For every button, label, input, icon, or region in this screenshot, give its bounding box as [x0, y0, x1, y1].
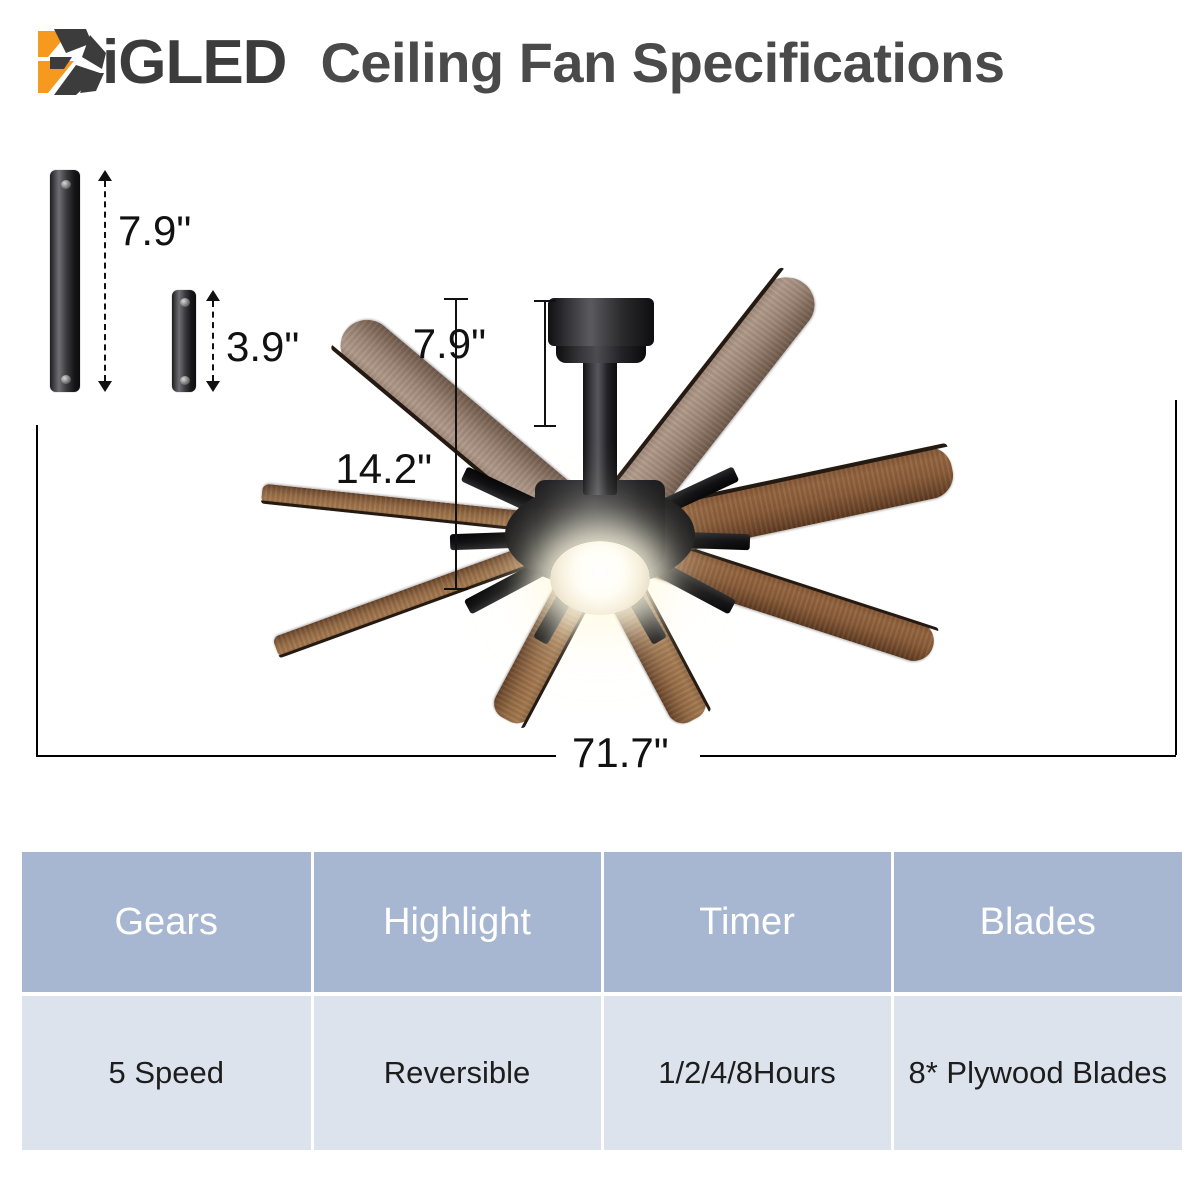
column-header-gears: Gears: [22, 852, 312, 994]
table-header-row: Gears Highlight Timer Blades: [22, 852, 1182, 994]
ceiling-fan-illustration: [0, 125, 1200, 825]
page-title: Ceiling Fan Specifications: [320, 35, 1004, 91]
dim-label-downrod-fitted: 7.9": [413, 320, 486, 368]
specifications-table: Gears Highlight Timer Blades 5 Speed Rev…: [22, 852, 1182, 1150]
cell-timer: 1/2/4/8Hours: [602, 994, 892, 1150]
extent-line-right: [1175, 400, 1177, 755]
cell-gears: 5 Speed: [22, 994, 312, 1150]
brand-name: iGLED: [102, 32, 286, 94]
specification-sheet: iGLED Ceiling Fan Specifications 7.9" 3.…: [0, 0, 1200, 1200]
column-header-highlight: Highlight: [312, 852, 602, 994]
table-row: 5 Speed Reversible 1/2/4/8Hours 8* Plywo…: [22, 994, 1182, 1150]
cell-blades: 8* Plywood Blades: [892, 994, 1182, 1150]
dim-tick-bottom-height: [444, 588, 468, 590]
dim-line-span-right: [700, 755, 1176, 757]
column-header-timer: Timer: [602, 852, 892, 994]
column-header-blades: Blades: [892, 852, 1182, 994]
ceiling-canopy: [548, 298, 654, 346]
dim-tick-bottom-downrod-fitted: [534, 425, 556, 427]
led-light-dome: [550, 541, 650, 615]
dim-label-total-height: 14.2": [335, 445, 432, 493]
dim-line-downrod-fitted: [544, 300, 546, 425]
extent-line-left: [36, 425, 38, 755]
cell-highlight: Reversible: [312, 994, 602, 1150]
dim-line-total-height: [455, 298, 457, 588]
dim-label-blade-span: 71.7": [572, 729, 669, 777]
page-header: iGLED Ceiling Fan Specifications: [0, 0, 1200, 125]
downrod: [583, 355, 617, 495]
ceiling-fan-dimension-diagram: 7.9" 3.9": [0, 125, 1200, 825]
shutter-logo-icon: [30, 27, 118, 99]
dim-line-span-left: [36, 755, 556, 757]
brand-logo: iGLED: [30, 23, 286, 103]
